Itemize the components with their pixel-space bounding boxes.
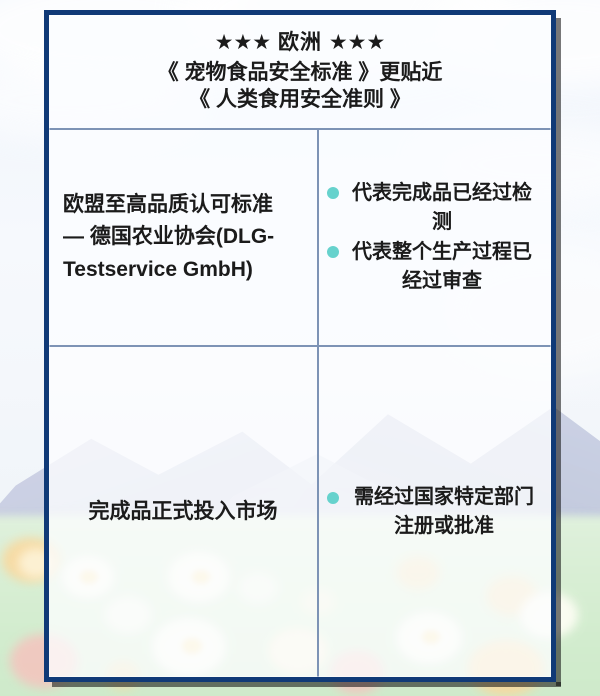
table-header-cell: ★★★ 欧洲 ★★★ 《 宠物食品安全标准 》更贴近 《 人类食用安全准则 》 xyxy=(49,15,551,128)
table-row: 完成品正式投入市场 需经过国家特定部门注册或批准 xyxy=(49,345,551,677)
row-1-bullet-list: 代表完成品已经过检测 代表整个生产过程已经过审查 xyxy=(327,179,541,297)
standards-table-frame: ★★★ 欧洲 ★★★ 《 宠物食品安全标准 》更贴近 《 人类食用安全准则 》 … xyxy=(44,10,556,682)
bullet-label: 代表整个生产过程已经过审查 xyxy=(343,238,541,296)
stars-left: ★★★ xyxy=(215,31,271,54)
row-1-left-text: 欧盟至高品质认可标准 — 德国农业协会(DLG- Testservice Gmb… xyxy=(63,189,303,287)
text-line: 欧盟至高品质认可标准 xyxy=(63,189,303,222)
text-line: 完成品正式投入市场 xyxy=(63,496,303,528)
header-block: ★★★ 欧洲 ★★★ 《 宠物食品安全标准 》更贴近 《 人类食用安全准则 》 xyxy=(158,29,443,114)
table-row: 欧盟至高品质认可标准 — 德国农业协会(DLG- Testservice Gmb… xyxy=(49,128,551,345)
row-2-left-text: 完成品正式投入市场 xyxy=(63,496,303,528)
bullet-dot-icon xyxy=(327,187,339,199)
poster-canvas: ★★★ 欧洲 ★★★ 《 宠物食品安全标准 》更贴近 《 人类食用安全准则 》 … xyxy=(0,0,600,696)
row-1-left-cell: 欧盟至高品质认可标准 — 德国农业协会(DLG- Testservice Gmb… xyxy=(49,130,317,345)
frame-shadow xyxy=(556,18,561,686)
standards-table: ★★★ 欧洲 ★★★ 《 宠物食品安全标准 》更贴近 《 人类食用安全准则 》 … xyxy=(49,15,551,677)
text-line: Testservice GmbH) xyxy=(63,254,303,287)
row-2-left-cell: 完成品正式投入市场 xyxy=(49,347,317,677)
row-2-right-cell: 需经过国家特定部门注册或批准 xyxy=(317,347,551,677)
text-line: — 德国农业协会(DLG- xyxy=(63,221,303,254)
row-1-right-cell: 代表完成品已经过检测 代表整个生产过程已经过审查 xyxy=(317,130,551,345)
list-item: 需经过国家特定部门注册或批准 xyxy=(327,483,541,541)
table-header-row: ★★★ 欧洲 ★★★ 《 宠物食品安全标准 》更贴近 《 人类食用安全准则 》 xyxy=(49,15,551,128)
list-item: 代表整个生产过程已经过审查 xyxy=(327,238,541,296)
list-item: 代表完成品已经过检测 xyxy=(327,179,541,237)
header-subtitle-line-2: 《 人类食用安全准则 》 xyxy=(158,86,443,114)
header-title-line: ★★★ 欧洲 ★★★ xyxy=(158,29,443,57)
frame-shadow xyxy=(52,682,561,687)
stars-right: ★★★ xyxy=(329,31,385,54)
bullet-label: 需经过国家特定部门注册或批准 xyxy=(347,483,541,541)
region-label: 欧洲 xyxy=(278,31,322,54)
header-subtitle-line-1: 《 宠物食品安全标准 》更贴近 xyxy=(158,59,443,87)
bullet-dot-icon xyxy=(327,492,339,504)
bullet-dot-icon xyxy=(327,246,339,258)
bullet-label: 代表完成品已经过检测 xyxy=(343,179,541,237)
row-2-bullet-list: 需经过国家特定部门注册或批准 xyxy=(327,483,541,542)
